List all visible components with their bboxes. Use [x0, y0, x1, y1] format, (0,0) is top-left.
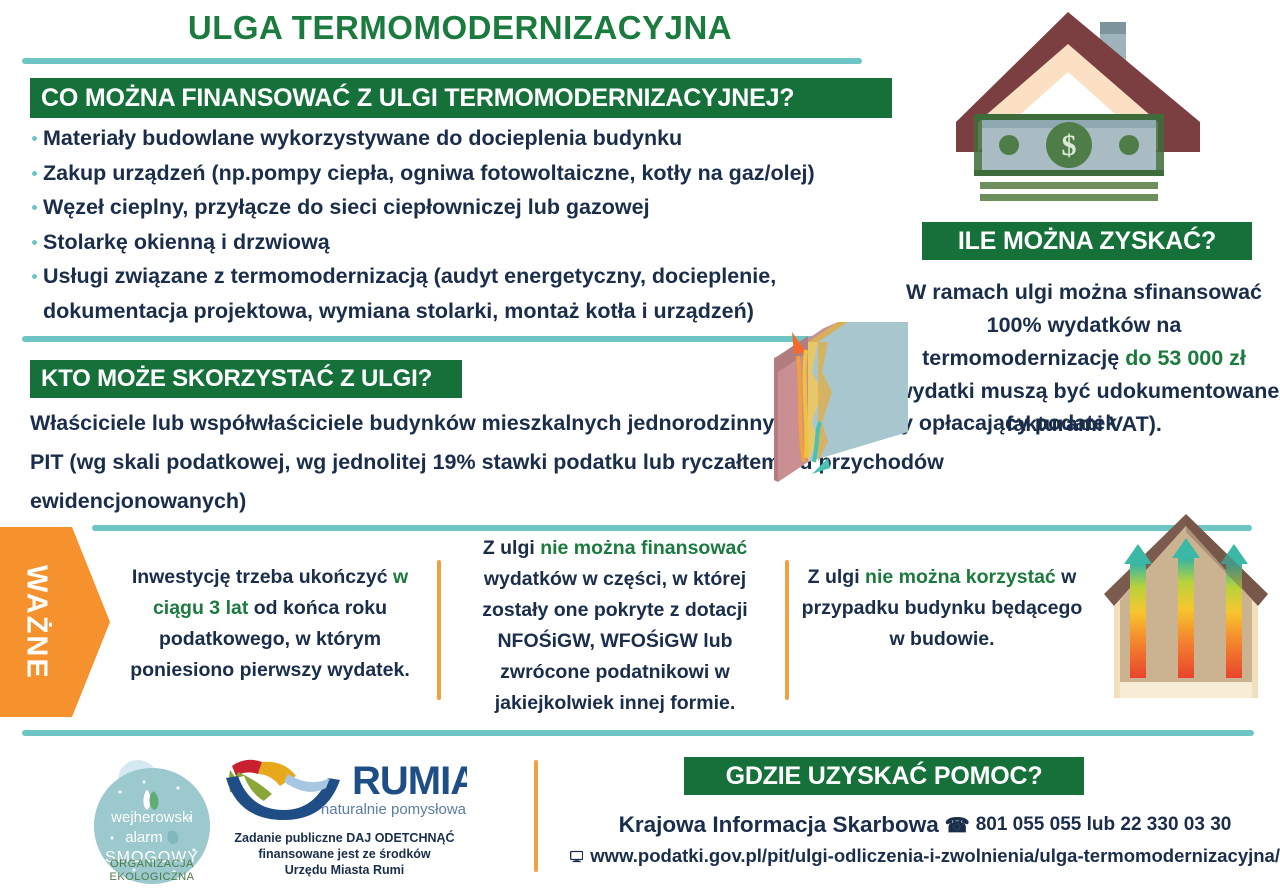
- svg-text:naturalnie pomysłowa: naturalnie pomysłowa: [321, 801, 467, 818]
- who-section-text: Właściciele lub współwłaściciele budynkó…: [30, 404, 1142, 521]
- house-with-banknote-icon: $: [952, 2, 1212, 207]
- finance-section-heading: CO MOŻNA FINANSOWAĆ Z ULGI TERMOMODERNIZ…: [30, 78, 892, 118]
- help-contact-line: Krajowa Informacja Skarbowa ☎ 801 055 05…: [570, 812, 1280, 838]
- list-item: Węzeł cieplny, przyłącze do sieci ciepło…: [30, 190, 920, 225]
- rumia-caption-line-3: Urzędu Miasta Rumi: [212, 862, 477, 878]
- divider-second: [22, 336, 822, 342]
- rumia-caption-line-2: finansowane jest ze środków: [212, 846, 477, 862]
- important-label-text: WAŻNE: [22, 565, 51, 680]
- rumia-logo-caption: Zadanie publiczne DAJ ODETCHNĄĆ finansow…: [212, 830, 477, 878]
- help-institution: Krajowa Informacja Skarbowa: [619, 812, 939, 838]
- gain-highlight: do 53 000 zł: [1125, 346, 1246, 370]
- important-label: WAŻNE: [0, 527, 72, 717]
- note-3-pre: Z ulgi: [808, 566, 865, 588]
- svg-text:wejherowski: wejherowski: [110, 809, 193, 826]
- rumia-caption-line-1: Zadanie publiczne DAJ ODETCHNĄĆ: [212, 830, 477, 846]
- svg-text:RUMIA: RUMIA: [352, 759, 467, 803]
- important-note-1: Inwestycję trzeba ukończyć w ciągu 3 lat…: [110, 562, 430, 686]
- rumia-logo: RUMIA naturalnie pomysłowa: [222, 752, 467, 822]
- note-3-highlight: nie można korzystać: [865, 566, 1056, 588]
- note-2-post: wydatków w części, w której zostały one …: [482, 568, 747, 714]
- who-section-heading: KTO MOŻE SKORZYSTAĆ Z ULGI?: [30, 360, 462, 398]
- smog-logo-caption: ORGANIZACJAEKOLOGICZNA: [72, 858, 232, 884]
- list-item: Stolarkę okienną i drzwiową: [30, 225, 920, 260]
- help-section-heading: GDZIE UZYSKAĆ POMOC?: [684, 757, 1084, 795]
- help-website-url[interactable]: www.podatki.gov.pl/pit/ulgi-odliczenia-i…: [590, 845, 1280, 867]
- insulated-wall-cross-section-icon: [772, 312, 912, 497]
- vertical-divider-1: [437, 560, 441, 700]
- vertical-divider-2: [785, 560, 789, 700]
- infographic-page: ULGA TERMOMODERNIZACYJNA $ CO MOŻNA FINA…: [0, 0, 1280, 892]
- svg-text:alarm: alarm: [125, 829, 163, 846]
- divider-third: [92, 525, 1252, 531]
- gain-section-heading: ILE MOŻNA ZYSKAĆ?: [922, 222, 1252, 260]
- phone-icon: ☎: [945, 813, 970, 838]
- monitor-icon: [570, 848, 583, 865]
- note-1-pre: Inwestycję trzeba ukończyć: [132, 566, 393, 588]
- page-title: ULGA TERMOMODERNIZACYJNA: [0, 8, 920, 48]
- house-with-energy-arrows-icon: [1096, 466, 1276, 724]
- divider-footer: [22, 730, 1254, 736]
- divider-top: [22, 58, 862, 64]
- vertical-divider-3: [534, 760, 538, 872]
- important-note-3: Z ulgi nie można korzystać w przypadku b…: [792, 562, 1092, 655]
- finance-items-list: Materiały budowlane wykorzystywane do do…: [30, 121, 920, 328]
- help-website-line[interactable]: www.podatki.gov.pl/pit/ulgi-odliczenia-i…: [570, 845, 1280, 867]
- important-note-2: Z ulgi nie można finansować wydatków w c…: [450, 533, 780, 719]
- note-2-pre: Z ulgi: [483, 537, 540, 559]
- list-item: Zakup urządzeń (np.pompy ciepła, ogniwa …: [30, 156, 920, 191]
- svg-text:$: $: [1062, 129, 1077, 162]
- help-phone: 801 055 055 lub 22 330 03 30: [976, 814, 1232, 836]
- note-2-highlight: nie można finansować: [540, 537, 747, 559]
- list-item: Materiały budowlane wykorzystywane do do…: [30, 121, 920, 156]
